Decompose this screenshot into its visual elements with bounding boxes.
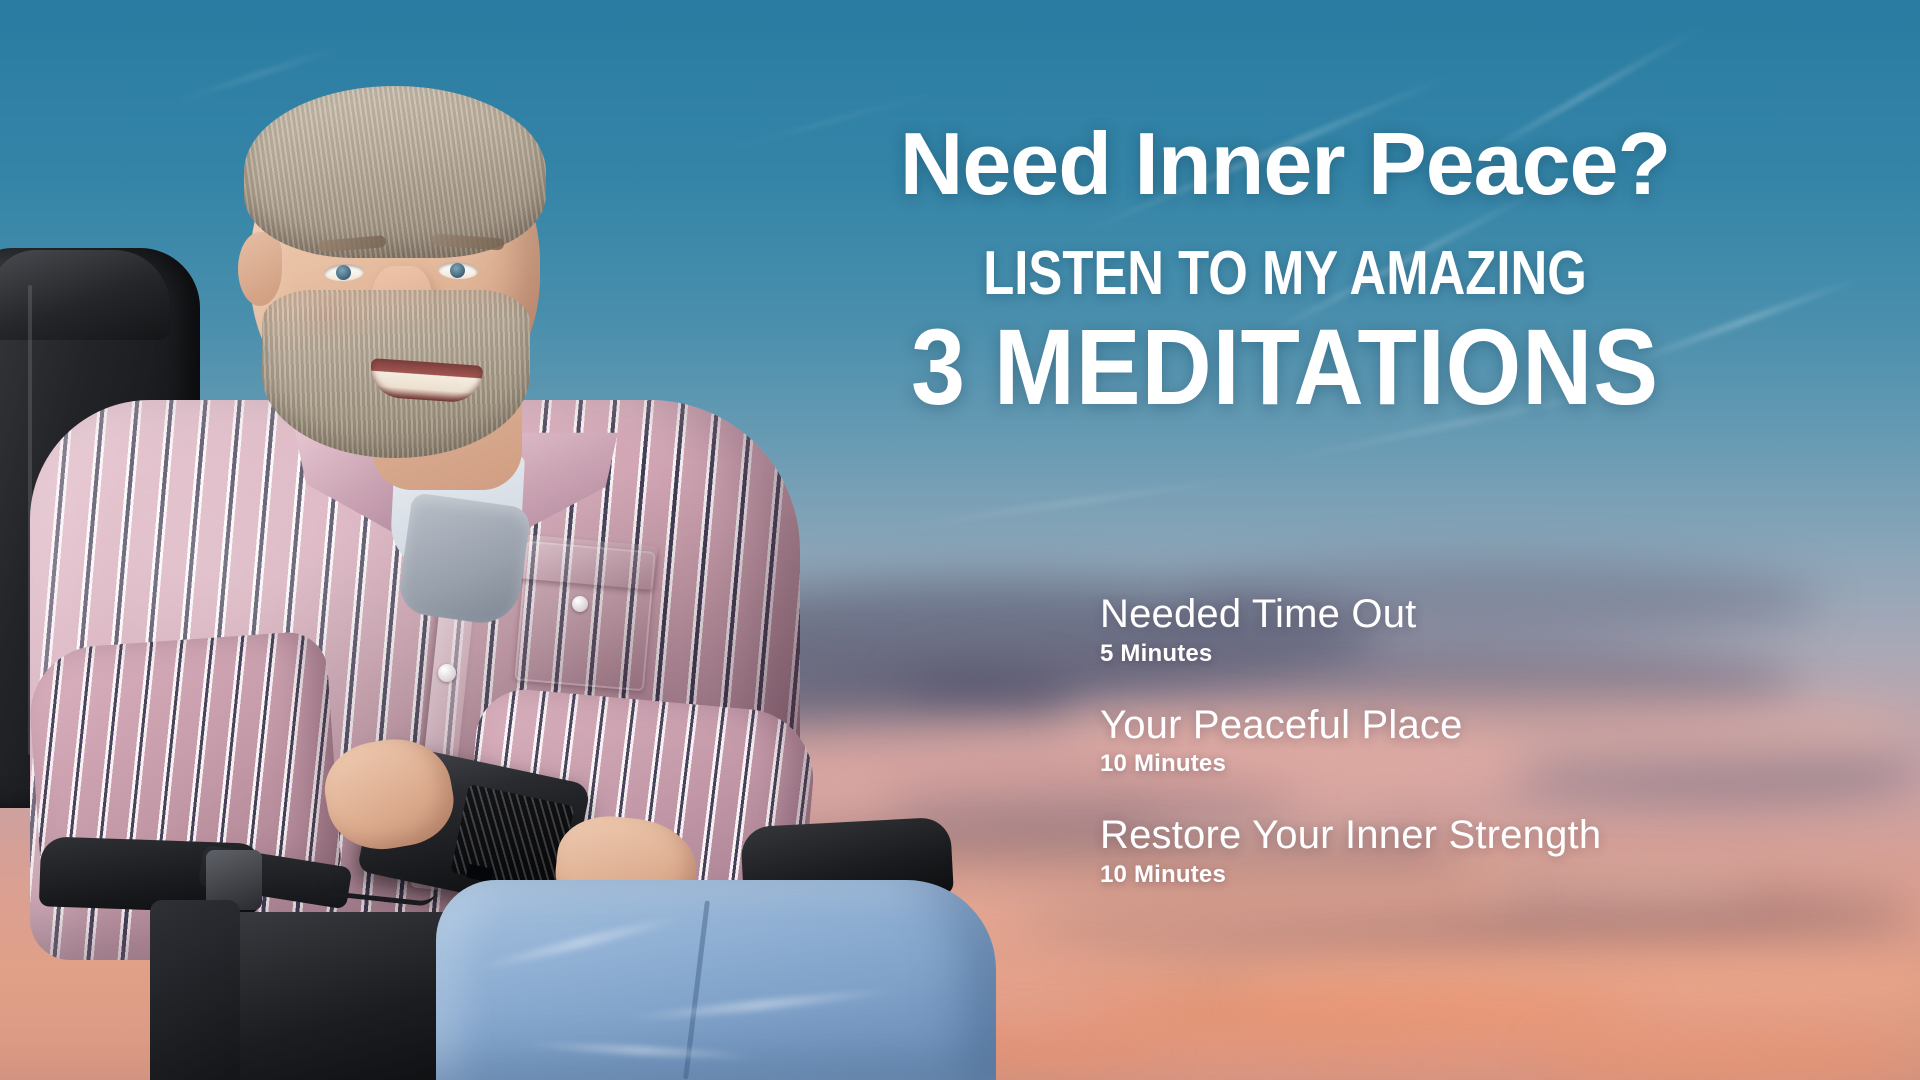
list-item: Your Peaceful Place 10 Minutes <box>1100 703 1840 780</box>
neck-scarf <box>396 492 532 628</box>
track-duration: 10 Minutes <box>1100 750 1840 779</box>
iris <box>450 263 466 279</box>
headline-block: Need Inner Peace? LISTEN TO MY AMAZING 3… <box>690 120 1880 424</box>
shirt-button <box>438 664 456 682</box>
track-duration: 5 Minutes <box>1100 640 1840 669</box>
meditation-count-heading: 3 MEDITATIONS <box>750 311 1821 423</box>
page-title: Need Inner Peace? <box>690 120 1880 208</box>
track-title: Needed Time Out <box>1100 592 1840 637</box>
track-duration: 10 Minutes <box>1100 861 1840 890</box>
subheading: LISTEN TO MY AMAZING <box>797 242 1773 305</box>
shirt-pocket-button <box>572 596 588 612</box>
ear <box>238 232 282 306</box>
iris <box>336 265 352 281</box>
track-title: Your Peaceful Place <box>1100 703 1840 748</box>
meditation-track-list: Needed Time Out 5 Minutes Your Peaceful … <box>1100 592 1840 890</box>
list-item: Needed Time Out 5 Minutes <box>1100 592 1840 669</box>
wheelchair-footrest <box>150 900 240 1080</box>
track-title: Restore Your Inner Strength <box>1100 813 1840 858</box>
wheelchair-headrest <box>0 250 170 340</box>
list-item: Restore Your Inner Strength 10 Minutes <box>1100 813 1840 890</box>
promo-banner: Need Inner Peace? LISTEN TO MY AMAZING 3… <box>0 0 1920 1080</box>
hair-texture <box>244 86 546 258</box>
